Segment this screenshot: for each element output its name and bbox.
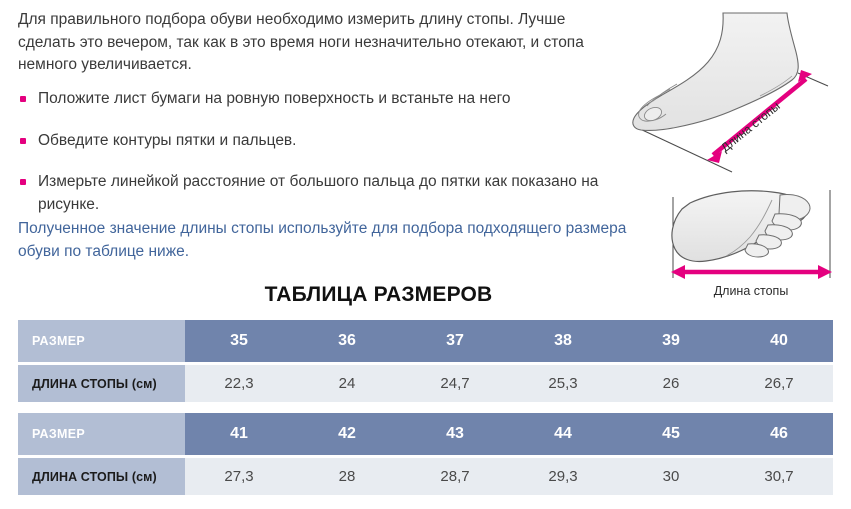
length-cell: 25,3	[509, 365, 617, 402]
intro-text: Для правильного подбора обуви необходимо…	[18, 9, 618, 77]
size-cell: 37	[401, 320, 509, 362]
length-cell: 26,7	[725, 365, 833, 402]
size-table-2: РАЗМЕР 41 42 43 44 45 46 ДЛИНА СТОПЫ (см…	[18, 413, 833, 495]
foot-side-view-svg: Длина стопы	[620, 0, 851, 180]
foot-side-view-illustration: Длина стопы	[620, 0, 851, 180]
length-cell: 27,3	[185, 458, 293, 495]
size-cells: 41 42 43 44 45 46	[185, 413, 833, 455]
table-row: ДЛИНА СТОПЫ (см) 27,3 28 28,7 29,3 30 30…	[18, 458, 833, 495]
size-cells: 35 36 37 38 39 40	[185, 320, 833, 362]
length-cells: 27,3 28 28,7 29,3 30 30,7	[185, 458, 833, 495]
size-cell: 45	[617, 413, 725, 455]
intro-paragraph: Для правильного подбора обуви необходимо…	[18, 9, 618, 77]
size-cell: 35	[185, 320, 293, 362]
note-text: Полученное значение длины стопы использу…	[18, 218, 628, 263]
length-cell: 30,7	[725, 458, 833, 495]
length-cell: 30	[617, 458, 725, 495]
size-cell: 40	[725, 320, 833, 362]
length-cell: 28,7	[401, 458, 509, 495]
length-cell: 24	[293, 365, 401, 402]
size-cell: 44	[509, 413, 617, 455]
row-label: ДЛИНА СТОПЫ (см)	[18, 365, 185, 402]
size-cell: 41	[185, 413, 293, 455]
table-row-header: РАЗМЕР 35 36 37 38 39 40	[18, 320, 833, 362]
table-row: ДЛИНА СТОПЫ (см) 22,3 24 24,7 25,3 26 26…	[18, 365, 833, 402]
length-cell: 24,7	[401, 365, 509, 402]
bullet-icon	[20, 179, 26, 185]
size-cell: 43	[401, 413, 509, 455]
row-header-label: РАЗМЕР	[18, 413, 185, 455]
list-item-label: Положите лист бумаги на ровную поверхнос…	[38, 90, 511, 107]
foot-sole-view-illustration: Длина стопы	[620, 175, 851, 310]
list-item: Измерьте линейкой расстояние от большого…	[18, 171, 618, 216]
measure-label: Длина стопы	[714, 284, 789, 298]
measure-arrow	[671, 265, 832, 279]
length-cell: 29,3	[509, 458, 617, 495]
size-cell: 46	[725, 413, 833, 455]
length-cells: 22,3 24 24,7 25,3 26 26,7	[185, 365, 833, 402]
foot-sole-view-svg: Длина стопы	[620, 175, 851, 310]
bullet-icon	[20, 96, 26, 102]
note-paragraph: Полученное значение длины стопы использу…	[18, 218, 628, 263]
bullet-icon	[20, 138, 26, 144]
length-cell: 26	[617, 365, 725, 402]
list-item-label: Обведите контуры пятки и пальцев.	[38, 132, 296, 149]
size-cell: 36	[293, 320, 401, 362]
size-table-1: РАЗМЕР 35 36 37 38 39 40 ДЛИНА СТОПЫ (см…	[18, 320, 833, 402]
table-row-header: РАЗМЕР 41 42 43 44 45 46	[18, 413, 833, 455]
list-item: Положите лист бумаги на ровную поверхнос…	[18, 88, 618, 111]
steps-list: Положите лист бумаги на ровную поверхнос…	[18, 88, 618, 235]
list-item: Обведите контуры пятки и пальцев.	[18, 130, 618, 153]
size-cell: 39	[617, 320, 725, 362]
row-header-label: РАЗМЕР	[18, 320, 185, 362]
size-cell: 42	[293, 413, 401, 455]
length-cell: 28	[293, 458, 401, 495]
size-cell: 38	[509, 320, 617, 362]
length-cell: 22,3	[185, 365, 293, 402]
row-label: ДЛИНА СТОПЫ (см)	[18, 458, 185, 495]
list-item-label: Измерьте линейкой расстояние от большого…	[38, 173, 598, 213]
